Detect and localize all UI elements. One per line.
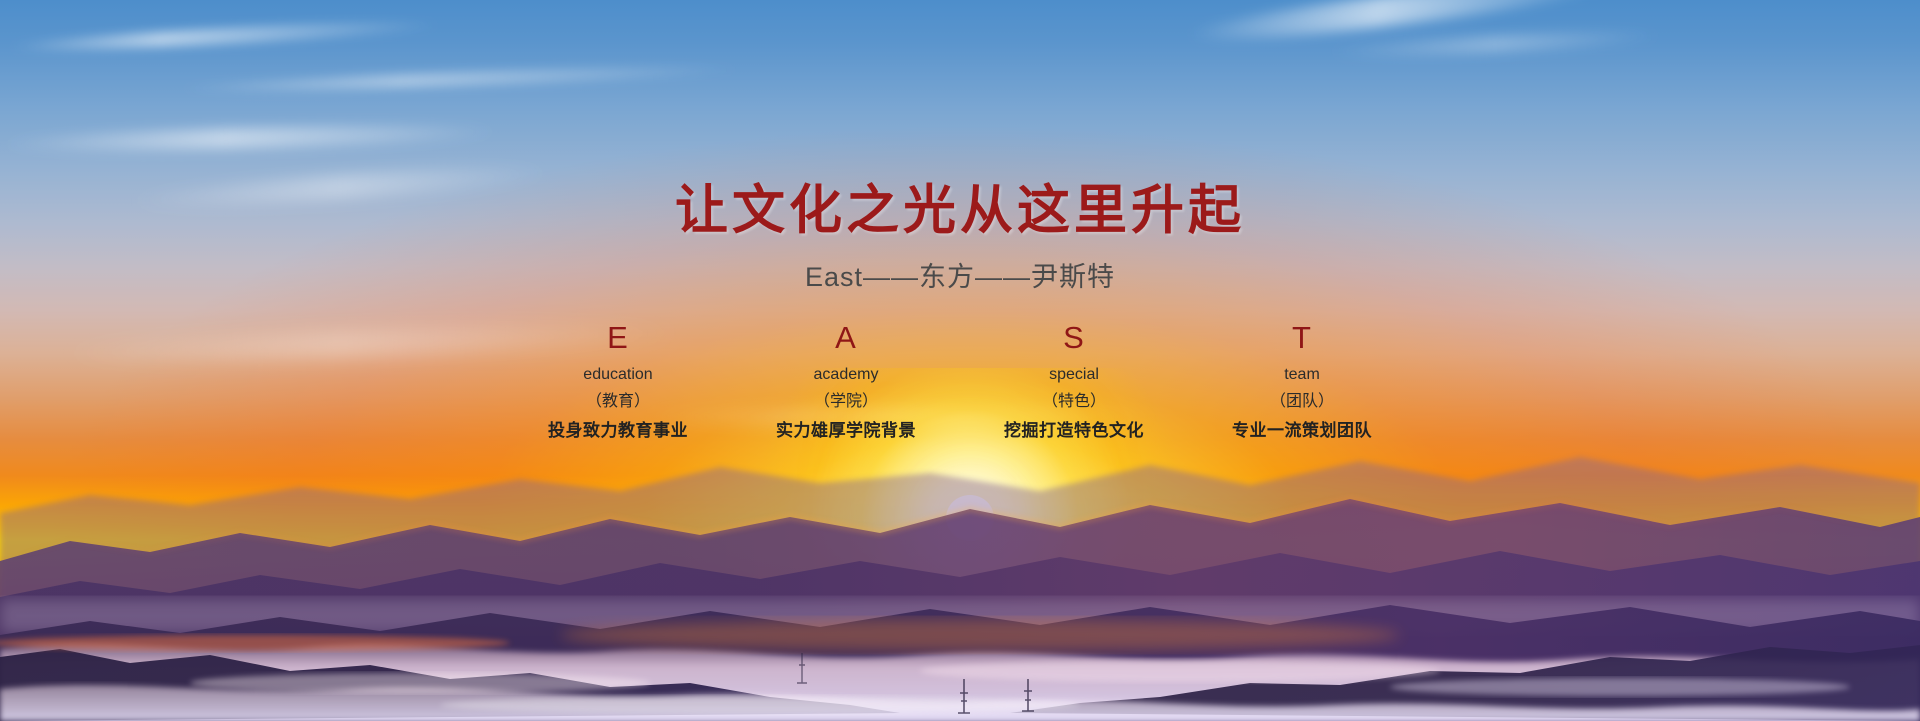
- acronym-chinese-desc: 专业一流策划团队: [1188, 420, 1416, 442]
- acronym-chinese-paren: （教育）: [504, 392, 732, 412]
- acronym-chinese-paren: （特色）: [960, 392, 1188, 412]
- acronym-chinese-desc: 实力雄厚学院背景: [732, 420, 960, 442]
- acronym-letter: E: [504, 320, 732, 356]
- acronym-column-education: E education （教育） 投身致力教育事业: [504, 320, 732, 442]
- acronym-chinese-paren: （团队）: [1188, 392, 1416, 412]
- hero-banner: 让文化之光从这里升起 East——东方——尹斯特 E education （教育…: [0, 0, 1920, 721]
- acronym-column-team: T team （团队） 专业一流策划团队: [1188, 320, 1416, 442]
- acronym-english: team: [1188, 365, 1416, 385]
- acronym-chinese-desc: 挖掘打造特色文化: [960, 420, 1188, 442]
- banner-subtitle: East——东方——尹斯特: [0, 255, 1920, 294]
- acronym-english: special: [960, 365, 1188, 385]
- acronym-chinese-desc: 投身致力教育事业: [504, 420, 732, 442]
- acronym-letter: S: [960, 320, 1188, 356]
- acronym-column-special: S special （特色） 挖掘打造特色文化: [960, 320, 1188, 442]
- page-title: 让文化之光从这里升起: [0, 168, 1920, 244]
- acronym-letter: T: [1188, 320, 1416, 356]
- east-acronym-list: E education （教育） 投身致力教育事业 A academy （学院）…: [0, 320, 1920, 442]
- acronym-letter: A: [732, 320, 960, 356]
- acronym-chinese-paren: （学院）: [732, 392, 960, 412]
- acronym-english: education: [504, 365, 732, 385]
- acronym-column-academy: A academy （学院） 实力雄厚学院背景: [732, 320, 960, 442]
- banner-text-overlay: 让文化之光从这里升起 East——东方——尹斯特 E education （教育…: [0, 0, 1920, 721]
- acronym-english: academy: [732, 365, 960, 385]
